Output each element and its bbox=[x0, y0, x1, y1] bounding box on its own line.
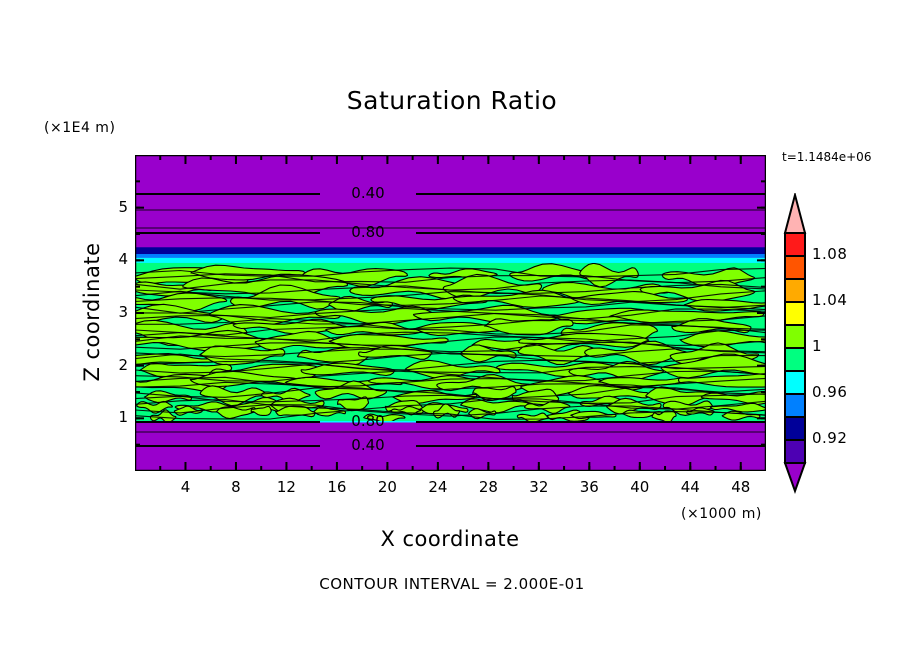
y-tick-label: 1 bbox=[98, 408, 128, 426]
colorbar-band[interactable] bbox=[785, 325, 805, 348]
contour-value-label: 0.80 bbox=[338, 412, 398, 430]
contour-value-label: 0.40 bbox=[338, 436, 398, 454]
colorbar-tick-label: 1.04 bbox=[812, 291, 847, 309]
x-tick-label: 8 bbox=[216, 478, 256, 496]
colorbar[interactable] bbox=[775, 193, 815, 523]
colorbar-band[interactable] bbox=[785, 348, 805, 371]
x-axis-title: X coordinate bbox=[135, 527, 765, 551]
x-tick-label: 16 bbox=[317, 478, 357, 496]
contour-value-label: 0.40 bbox=[338, 184, 398, 202]
colorbar-band[interactable] bbox=[785, 279, 805, 302]
colorbar-tick-label: 1 bbox=[812, 337, 822, 355]
colorbar-band[interactable] bbox=[785, 302, 805, 325]
x-tick-label: 40 bbox=[620, 478, 660, 496]
colorbar-band[interactable] bbox=[785, 417, 805, 440]
colorbar-band[interactable] bbox=[785, 440, 805, 463]
y-tick-label: 3 bbox=[98, 303, 128, 321]
x-tick-label: 44 bbox=[670, 478, 710, 496]
x-tick-label: 28 bbox=[468, 478, 508, 496]
colorbar-band[interactable] bbox=[785, 394, 805, 417]
x-tick-label: 36 bbox=[569, 478, 609, 496]
contour-value-label: 0.80 bbox=[338, 223, 398, 241]
x-axis-unit-label: (×1000 m) bbox=[681, 506, 762, 522]
colorbar-tick-label: 0.92 bbox=[812, 429, 847, 447]
x-tick-label: 12 bbox=[266, 478, 306, 496]
colorbar-band[interactable] bbox=[785, 256, 805, 279]
colorbar-band[interactable] bbox=[785, 233, 805, 256]
colorbar-tick-label: 1.08 bbox=[812, 245, 847, 263]
timestamp-annotation: t=1.1484e+06 bbox=[782, 150, 871, 164]
contour-interval-caption: CONTOUR INTERVAL = 2.000E-01 bbox=[0, 575, 904, 593]
y-axis-unit-label: (×1E4 m) bbox=[44, 120, 115, 136]
colorbar-under-arrow bbox=[785, 463, 805, 491]
x-tick-label: 24 bbox=[418, 478, 458, 496]
region-upper-transition-darkblue bbox=[135, 247, 766, 254]
figure-canvas: Saturation Ratio (×1E4 m) t=1.1484e+06 Z… bbox=[0, 0, 904, 654]
page-title: Saturation Ratio bbox=[0, 86, 904, 115]
x-tick-label: 32 bbox=[519, 478, 559, 496]
y-tick-label: 2 bbox=[98, 356, 128, 374]
y-tick-label: 4 bbox=[98, 250, 128, 268]
y-tick-label: 5 bbox=[98, 198, 128, 216]
x-tick-label: 4 bbox=[165, 478, 205, 496]
region-upper-transition-cyan bbox=[135, 258, 766, 263]
region-upper-transition-blue bbox=[135, 254, 766, 258]
x-tick-label: 48 bbox=[721, 478, 761, 496]
x-tick-label: 20 bbox=[367, 478, 407, 496]
colorbar-band[interactable] bbox=[785, 371, 805, 394]
contour-plot bbox=[135, 155, 766, 471]
contour-fill-layer bbox=[135, 155, 766, 471]
colorbar-tick-label: 0.96 bbox=[812, 383, 847, 401]
colorbar-over-arrow bbox=[785, 195, 805, 233]
